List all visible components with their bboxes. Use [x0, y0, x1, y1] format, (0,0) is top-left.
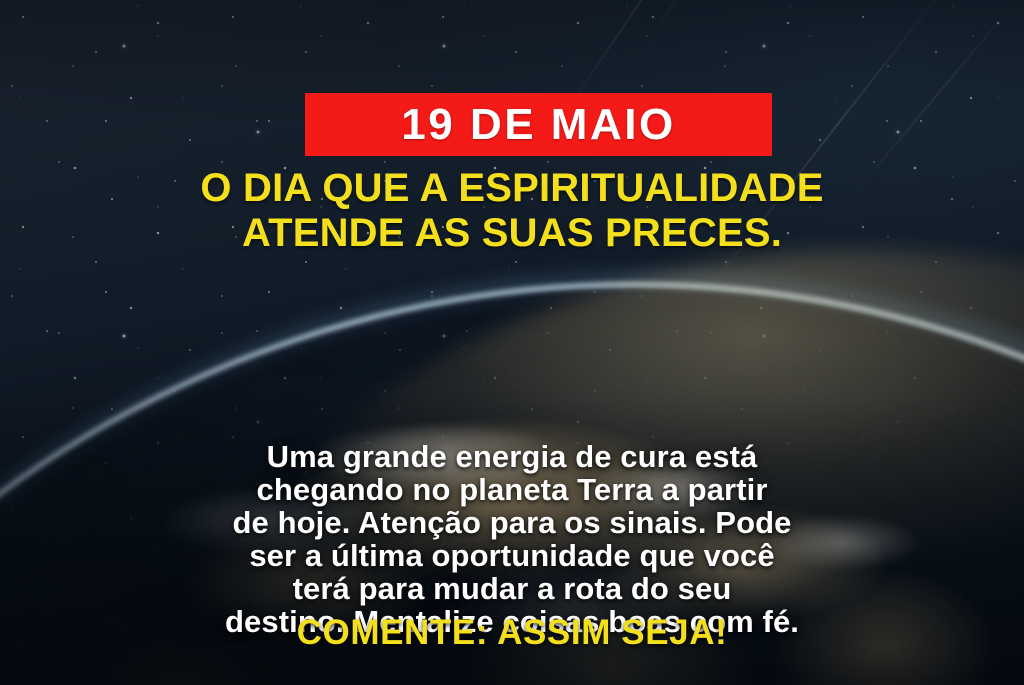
body-line-4: ser a última oportunidade que você [0, 539, 1024, 572]
body-line-3: de hoje. Atenção para os sinais. Pode [0, 506, 1024, 539]
headline-line-1: O DIA QUE A ESPIRITUALIDADE [0, 166, 1024, 211]
headline: O DIA QUE A ESPIRITUALIDADE ATENDE AS SU… [0, 166, 1024, 256]
body-line-2: chegando no planeta Terra a partir [0, 473, 1024, 506]
poster-image: 19 DE MAIO O DIA QUE A ESPIRITUALIDADE A… [0, 0, 1024, 685]
body-line-5: terá para mudar a rota do seu [0, 572, 1024, 605]
call-to-action-text: COMENTE: ASSIM SEJA! [0, 614, 1024, 653]
headline-line-2: ATENDE AS SUAS PRECES. [0, 211, 1024, 256]
body-line-1: Uma grande energia de cura está [0, 440, 1024, 473]
body-copy: Uma grande energia de cura está chegando… [0, 440, 1024, 638]
date-banner-text: 19 DE MAIO [401, 103, 675, 147]
poster-content: 19 DE MAIO O DIA QUE A ESPIRITUALIDADE A… [0, 0, 1024, 685]
date-banner: 19 DE MAIO [305, 93, 772, 156]
